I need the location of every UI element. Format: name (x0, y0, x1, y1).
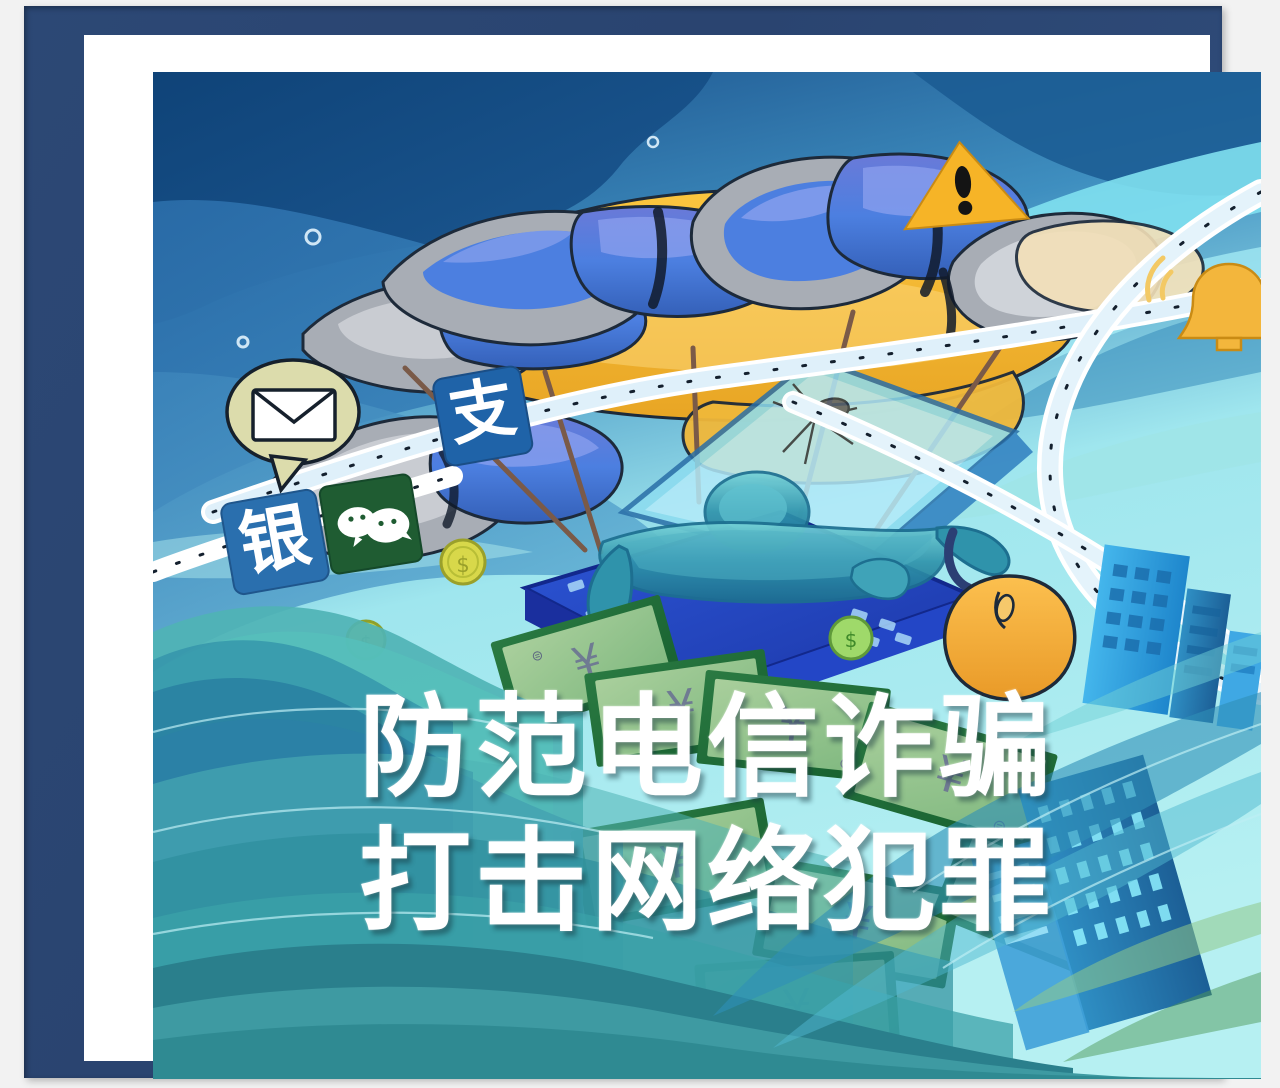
coin-icon: $ (441, 540, 485, 584)
svg-text:$: $ (456, 553, 469, 577)
svg-text:支: 支 (443, 368, 521, 455)
artwork-canvas: ¥ ⊜ ¥ ¥ (153, 72, 1261, 1079)
svg-text:银: 银 (233, 494, 316, 587)
poster-artwork: ¥ ⊜ ¥ ¥ (153, 72, 1261, 1079)
bank-icon-glyph: 银 (233, 494, 316, 587)
poster-frame-outer: ¥ ⊜ ¥ ¥ (0, 0, 1280, 1088)
alipay-icon-glyph: 支 (443, 368, 521, 455)
poster-mat: ¥ ⊜ ¥ ¥ (84, 35, 1210, 1061)
svg-text:¥: ¥ (775, 697, 810, 754)
coin-icon: $ (830, 617, 872, 659)
wechat-icon (319, 473, 424, 574)
svg-text:$: $ (845, 628, 858, 652)
poster-frame-border: ¥ ⊜ ¥ ¥ (24, 6, 1222, 1078)
